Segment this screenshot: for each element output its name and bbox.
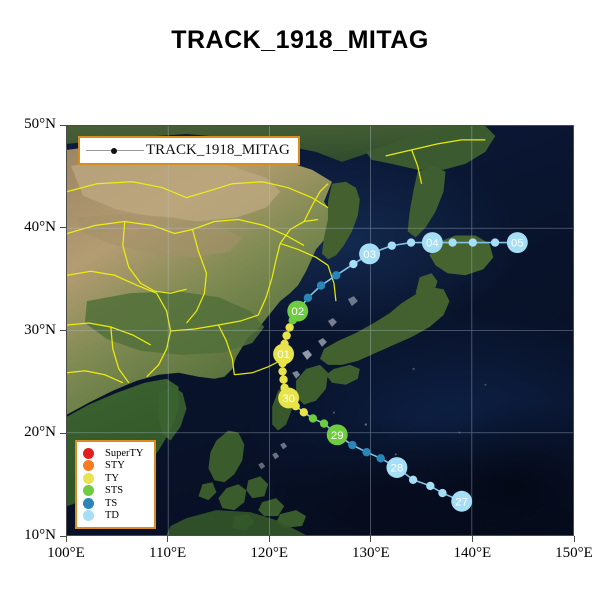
track-point-minor[interactable] <box>332 271 340 279</box>
track-point-minor[interactable] <box>426 482 434 490</box>
track-point-label: 04 <box>426 238 439 250</box>
x-axis-label: 140°E <box>446 545 498 562</box>
track-point-minor[interactable] <box>320 419 328 427</box>
intensity-legend-row-ts: TS <box>83 497 144 509</box>
intensity-legend-row-sts: STS <box>83 485 144 497</box>
track-legend-marker <box>86 145 144 157</box>
intensity-swatch-ty-icon <box>83 473 94 484</box>
intensity-swatch-sty-icon <box>83 460 94 471</box>
track-point-label: 30 <box>282 393 295 405</box>
intensity-legend-row-ty: TY <box>83 472 144 484</box>
track-point-minor[interactable] <box>317 281 325 289</box>
intensity-legend-label: STY <box>105 460 125 471</box>
y-axis-label: 10°N <box>8 527 56 544</box>
x-axis-tick <box>574 536 575 542</box>
track-point-minor[interactable] <box>377 454 385 462</box>
intensity-legend-row-sty: STY <box>83 460 144 472</box>
typhoon-track-figure: TRACK_1918_MITAG <box>0 0 600 600</box>
intensity-swatch-td-icon <box>83 510 94 521</box>
x-axis-tick <box>167 536 168 542</box>
y-axis-label: 40°N <box>8 219 56 236</box>
map-panel: 272829300102030405 TRACK_1918_MITAG Supe… <box>66 125 574 536</box>
intensity-legend-label: SuperTY <box>105 448 144 459</box>
x-axis-label: 150°E <box>548 545 600 562</box>
y-axis-tick <box>60 227 66 228</box>
y-axis-label: 50°N <box>8 116 56 133</box>
track-legend: TRACK_1918_MITAG <box>78 136 300 165</box>
track-point-label: 05 <box>511 238 524 250</box>
intensity-swatch-sts-icon <box>83 485 94 496</box>
x-axis-tick <box>269 536 270 542</box>
track-point-minor[interactable] <box>362 448 370 456</box>
y-axis-tick <box>60 125 66 126</box>
intensity-legend: SuperTYSTYTYSTSTSTD <box>75 440 156 530</box>
track-point-minor[interactable] <box>491 238 499 246</box>
y-axis-tick <box>60 330 66 331</box>
track-point-minor[interactable] <box>469 238 477 246</box>
track-point-minor[interactable] <box>285 323 293 331</box>
page-title: TRACK_1918_MITAG <box>0 26 600 55</box>
intensity-legend-row-superty: SuperTY <box>83 447 144 459</box>
intensity-swatch-superty-icon <box>83 448 94 459</box>
x-axis-label: 120°E <box>243 545 295 562</box>
y-axis-label: 20°N <box>8 424 56 441</box>
x-axis-tick <box>472 536 473 542</box>
track-point-label: 02 <box>291 306 304 318</box>
intensity-legend-label: TS <box>105 498 117 509</box>
track-point-minor[interactable] <box>300 408 308 416</box>
track-point-minor[interactable] <box>280 384 288 392</box>
x-axis-label: 110°E <box>142 545 194 562</box>
track-point-minor[interactable] <box>280 340 288 348</box>
x-axis-label: 100°E <box>40 545 92 562</box>
intensity-legend-label: STS <box>105 485 123 496</box>
track-point-minor[interactable] <box>278 367 286 375</box>
x-axis-tick <box>66 536 67 542</box>
track-point-minor[interactable] <box>348 441 356 449</box>
y-axis-label: 30°N <box>8 322 56 339</box>
intensity-legend-label: TD <box>105 510 119 521</box>
intensity-legend-label: TY <box>105 473 119 484</box>
intensity-swatch-ts-icon <box>83 498 94 509</box>
track-point-label: 29 <box>331 430 344 442</box>
track-point-label: 01 <box>277 349 290 361</box>
track-point-minor[interactable] <box>388 241 396 249</box>
track-point-label: 27 <box>455 496 468 508</box>
track-point-minor[interactable] <box>407 238 415 246</box>
x-axis-label: 130°E <box>345 545 397 562</box>
track-point-label: 28 <box>391 463 404 475</box>
track-point-minor[interactable] <box>448 238 456 246</box>
track-point-minor[interactable] <box>304 294 312 302</box>
track-point-label: 03 <box>363 249 376 261</box>
x-axis-tick <box>370 536 371 542</box>
track-point-minor[interactable] <box>279 375 287 383</box>
track-point-minor[interactable] <box>309 414 317 422</box>
track-legend-label: TRACK_1918_MITAG <box>146 142 290 159</box>
intensity-legend-row-td: TD <box>83 510 144 522</box>
track-point-minor[interactable] <box>409 476 417 484</box>
track-point-minor[interactable] <box>438 489 446 497</box>
y-axis-tick <box>60 536 66 537</box>
track-point-minor[interactable] <box>282 331 290 339</box>
track-point-minor[interactable] <box>349 260 357 268</box>
track-legend-dot-icon <box>111 148 117 154</box>
y-axis-tick <box>60 433 66 434</box>
